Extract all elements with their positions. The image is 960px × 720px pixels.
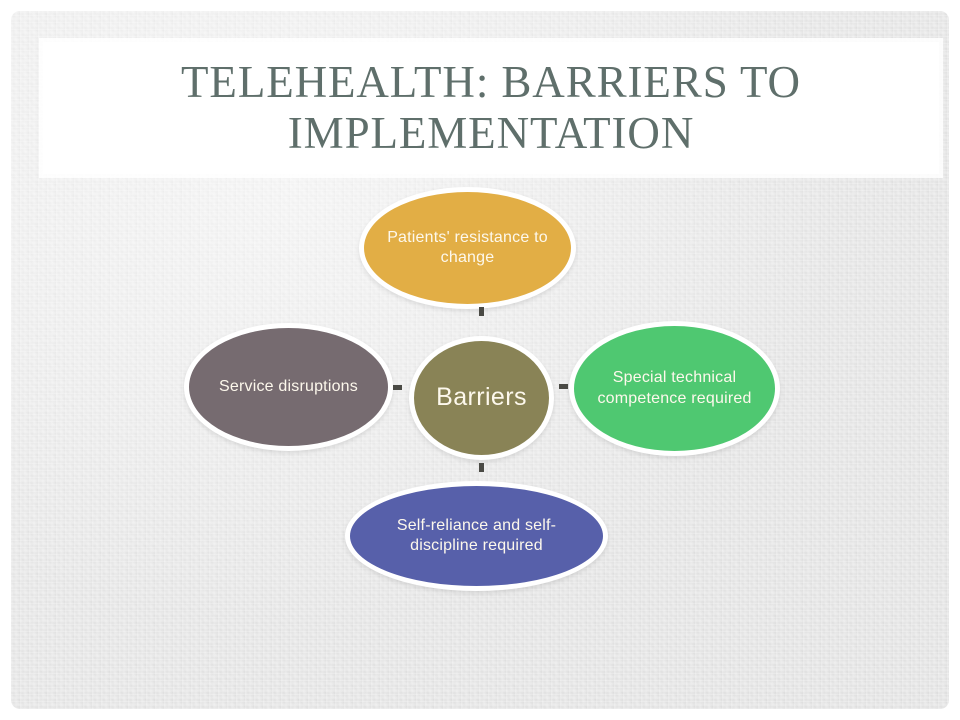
radial-diagram: Patients' resistance to change Service d… — [11, 11, 949, 709]
diagram-node-center-barriers[interactable]: Barriers — [409, 336, 554, 460]
connector-center-to-left — [393, 385, 402, 390]
diagram-center-label: Barriers — [422, 382, 541, 414]
slide-canvas: Telehealth: Barriers to Implementation P… — [11, 11, 949, 709]
diagram-node-self-reliance[interactable]: Self-reliance and self-discipline requir… — [345, 481, 608, 591]
diagram-node-label: Service disruptions — [205, 377, 372, 397]
diagram-node-patients-resistance[interactable]: Patients' resistance to change — [359, 187, 576, 309]
presentation-slide: Telehealth: Barriers to Implementation P… — [0, 0, 960, 720]
diagram-node-service-disruptions[interactable]: Service disruptions — [184, 323, 393, 451]
connector-center-to-right — [559, 384, 568, 389]
diagram-node-label: Special technical competence required — [574, 368, 775, 408]
diagram-node-technical-competence[interactable]: Special technical competence required — [569, 321, 780, 456]
diagram-node-label: Self-reliance and self-discipline requir… — [350, 516, 603, 556]
connector-center-to-top — [479, 307, 484, 316]
diagram-node-label: Patients' resistance to change — [364, 228, 571, 268]
connector-center-to-bottom — [479, 463, 484, 472]
